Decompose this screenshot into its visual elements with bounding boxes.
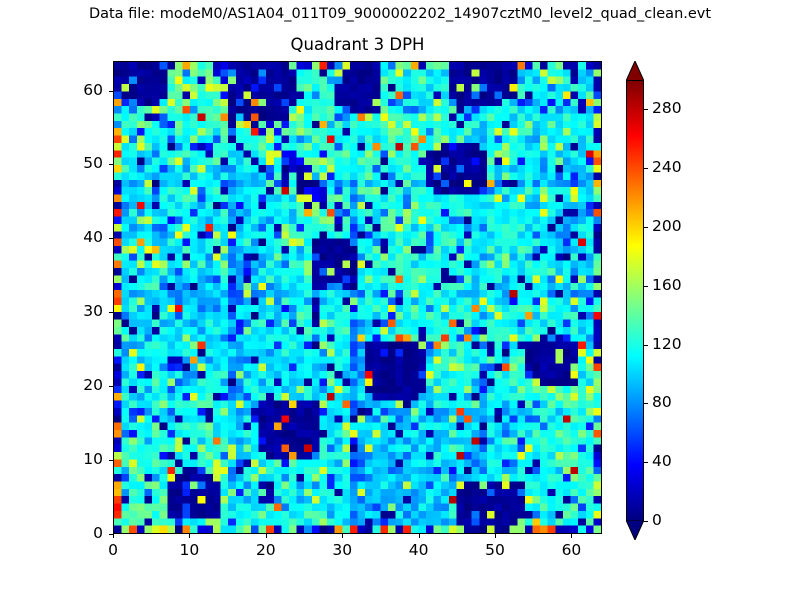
y-tick-mark	[109, 460, 113, 461]
colorbar-tick-label: 240	[652, 158, 682, 176]
x-tick-label: 50	[465, 541, 525, 559]
x-tick-mark	[495, 534, 496, 538]
colorbar-tick-mark	[644, 521, 648, 522]
colorbar-tick-mark	[644, 345, 648, 346]
axes-title: Quadrant 3 DPH	[113, 35, 602, 54]
colorbar-tick-label: 280	[652, 99, 682, 117]
y-tick-label: 40	[43, 228, 103, 246]
y-tick-label: 50	[43, 154, 103, 172]
y-tick-mark	[109, 238, 113, 239]
colorbar-tick-mark	[644, 286, 648, 287]
x-tick-mark	[189, 534, 190, 538]
colorbar-extend-low-arrow	[626, 520, 644, 540]
colorbar-tick-mark	[644, 109, 648, 110]
x-tick-label: 60	[541, 541, 601, 559]
x-tick-mark	[342, 534, 343, 538]
colorbar-tick-label: 160	[652, 276, 682, 294]
y-tick-mark	[109, 386, 113, 387]
colorbar-tick-mark	[644, 403, 648, 404]
y-tick-label: 10	[43, 450, 103, 468]
x-tick-label: 40	[389, 541, 449, 559]
colorbar-extend-high-arrow	[626, 61, 644, 81]
colorbar-tick-label: 40	[652, 452, 672, 470]
colorbar-tick-label: 120	[652, 335, 682, 353]
heatmap-plot-area[interactable]	[113, 61, 602, 534]
x-tick-label: 10	[159, 541, 219, 559]
colorbar-gradient	[627, 81, 643, 520]
x-tick-mark	[571, 534, 572, 538]
y-tick-label: 20	[43, 376, 103, 394]
x-tick-mark	[419, 534, 420, 538]
x-tick-label: 30	[312, 541, 372, 559]
x-tick-mark	[266, 534, 267, 538]
x-tick-mark	[113, 534, 114, 538]
colorbar-tick-label: 0	[652, 511, 662, 529]
colorbar[interactable]	[626, 61, 644, 540]
colorbar-tick-mark	[644, 227, 648, 228]
y-tick-label: 30	[43, 302, 103, 320]
y-tick-mark	[109, 312, 113, 313]
colorbar-tick-label: 200	[652, 217, 682, 235]
y-tick-mark	[109, 164, 113, 165]
colorbar-tick-mark	[644, 462, 648, 463]
figure-suptitle: Data file: modeM0/AS1A04_011T09_90000022…	[0, 6, 800, 22]
colorbar-gradient-body	[626, 80, 644, 521]
figure-canvas: Data file: modeM0/AS1A04_011T09_90000022…	[0, 0, 800, 600]
y-tick-mark	[109, 534, 113, 535]
y-tick-mark	[109, 91, 113, 92]
y-tick-label: 0	[43, 524, 103, 542]
x-tick-label: 0	[83, 541, 143, 559]
heatmap-image	[114, 62, 601, 533]
colorbar-tick-mark	[644, 168, 648, 169]
x-tick-label: 20	[236, 541, 296, 559]
colorbar-tick-label: 80	[652, 393, 672, 411]
y-tick-label: 60	[43, 81, 103, 99]
